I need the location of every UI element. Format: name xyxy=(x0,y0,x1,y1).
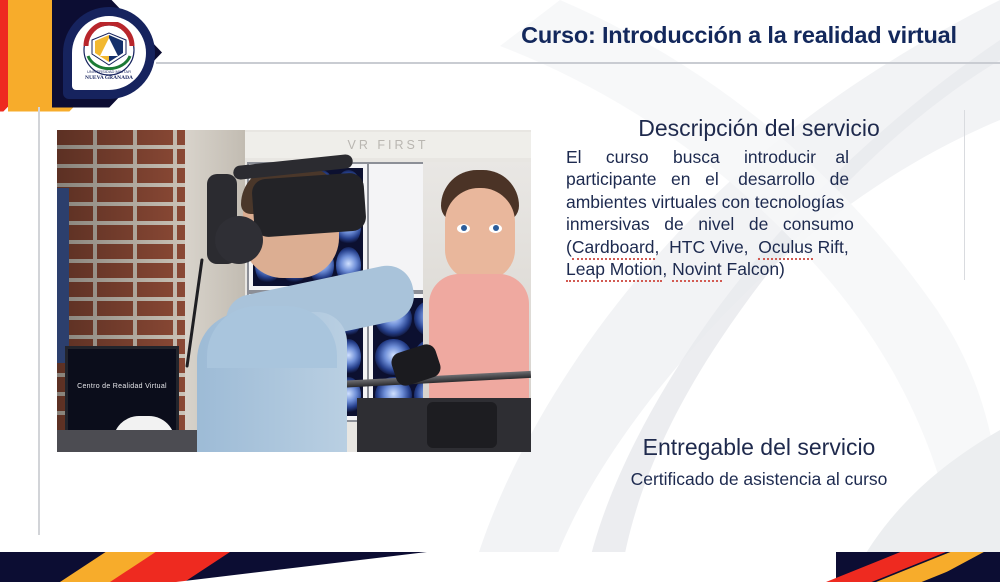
description-heading: Descripción del servicio xyxy=(566,115,952,142)
slide-title: Curso: Introducción a la realidad virtua… xyxy=(500,22,978,49)
description-line-3: ambientes virtuales con tecnologías xyxy=(566,192,844,212)
avatar-face xyxy=(445,188,515,280)
description-body: El curso busca introducir al participant… xyxy=(566,146,952,280)
footer-band xyxy=(0,552,1000,582)
description-line-4: inmersivas de nivel de consumo xyxy=(566,214,854,234)
svg-text:UNIVERSIDAD MILITAR: UNIVERSIDAD MILITAR xyxy=(87,69,131,74)
deliverable-body: Certificado de asistencia al curso xyxy=(566,469,952,490)
photo-equipment-cylinder xyxy=(427,402,497,448)
service-description-block: Descripción del servicio El curso busca … xyxy=(566,115,952,280)
left-vertical-divider xyxy=(38,107,40,535)
photo-blue-door-edge xyxy=(57,188,69,363)
university-seal-icon: UNIVERSIDAD MILITAR NUEVA GRANADA xyxy=(78,22,140,84)
deliverable-heading: Entregable del servicio xyxy=(566,434,952,461)
spellcheck-leapmotion: Leap Motion xyxy=(566,259,662,282)
photo-vr-headset xyxy=(251,172,367,238)
description-line-1: El curso busca introducir al xyxy=(566,147,849,167)
avatar-eye-right xyxy=(489,224,502,233)
presentation-slide: UNIVERSIDAD MILITAR NUEVA GRANADA Curso:… xyxy=(0,0,1000,582)
avatar-eye-left xyxy=(457,224,470,233)
description-line-5: (Cardboard, HTC Vive, Oculus Rift, xyxy=(566,237,849,260)
right-vertical-divider xyxy=(964,110,965,280)
header-divider xyxy=(156,62,1000,64)
spellcheck-cardboard: Cardboard xyxy=(572,237,655,260)
photo-monitor-caption: Centro de Realidad Virtual xyxy=(68,383,176,390)
description-line-6: Leap Motion, Novint Falcon) xyxy=(566,258,952,280)
spellcheck-oculus: Oculus xyxy=(758,237,812,260)
avatar-torso xyxy=(429,274,529,418)
spellcheck-novint: Novint xyxy=(672,259,722,282)
photo-headset-earcup xyxy=(215,216,263,264)
description-line-2: participante en el desarrollo de xyxy=(566,169,849,189)
vr-lab-photo: VR FIRST xyxy=(57,130,531,452)
photo-vrfirst-sign: VR FIRST xyxy=(245,132,531,158)
svg-text:NUEVA GRANADA: NUEVA GRANADA xyxy=(85,75,133,81)
